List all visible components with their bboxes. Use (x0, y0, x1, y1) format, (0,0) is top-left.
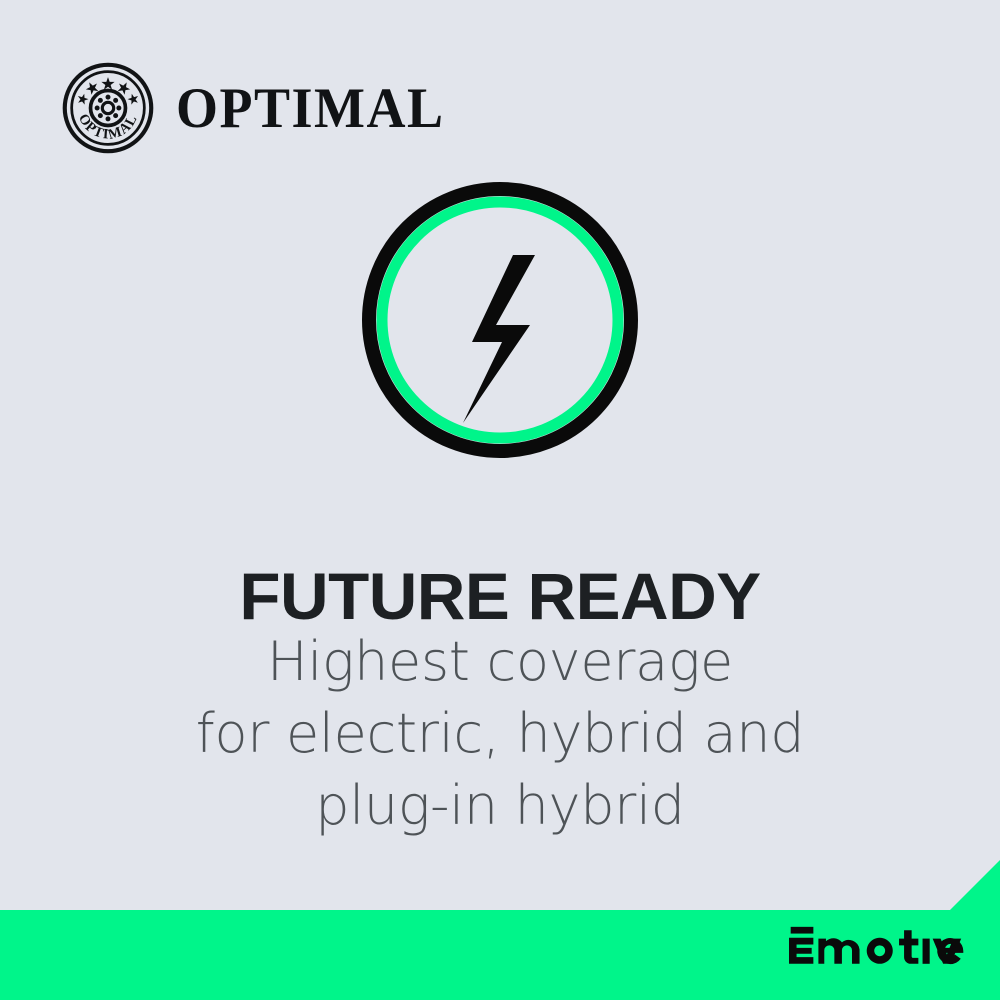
subcopy-line: Highest coverage (0, 626, 1000, 698)
page-title: FUTURE READY (0, 562, 1000, 631)
subcopy-line: plug-in hybrid (0, 770, 1000, 842)
brand-wordmark: OPTIMAL (176, 79, 445, 136)
poster-canvas: OPTIMAL OPTIMAL (0, 0, 1000, 1000)
brand-header: OPTIMAL OPTIMAL (62, 62, 445, 154)
subcopy-block: Highest coverage for electric, hybrid an… (0, 626, 1000, 842)
optimal-wheel-badge-icon: OPTIMAL (62, 62, 154, 154)
subcopy-line: for electric, hybrid and (0, 698, 1000, 770)
footer-band (0, 860, 1000, 1000)
emotive-wordmark-logo (789, 926, 965, 968)
lightning-bolt-in-circle-icon (362, 182, 638, 458)
